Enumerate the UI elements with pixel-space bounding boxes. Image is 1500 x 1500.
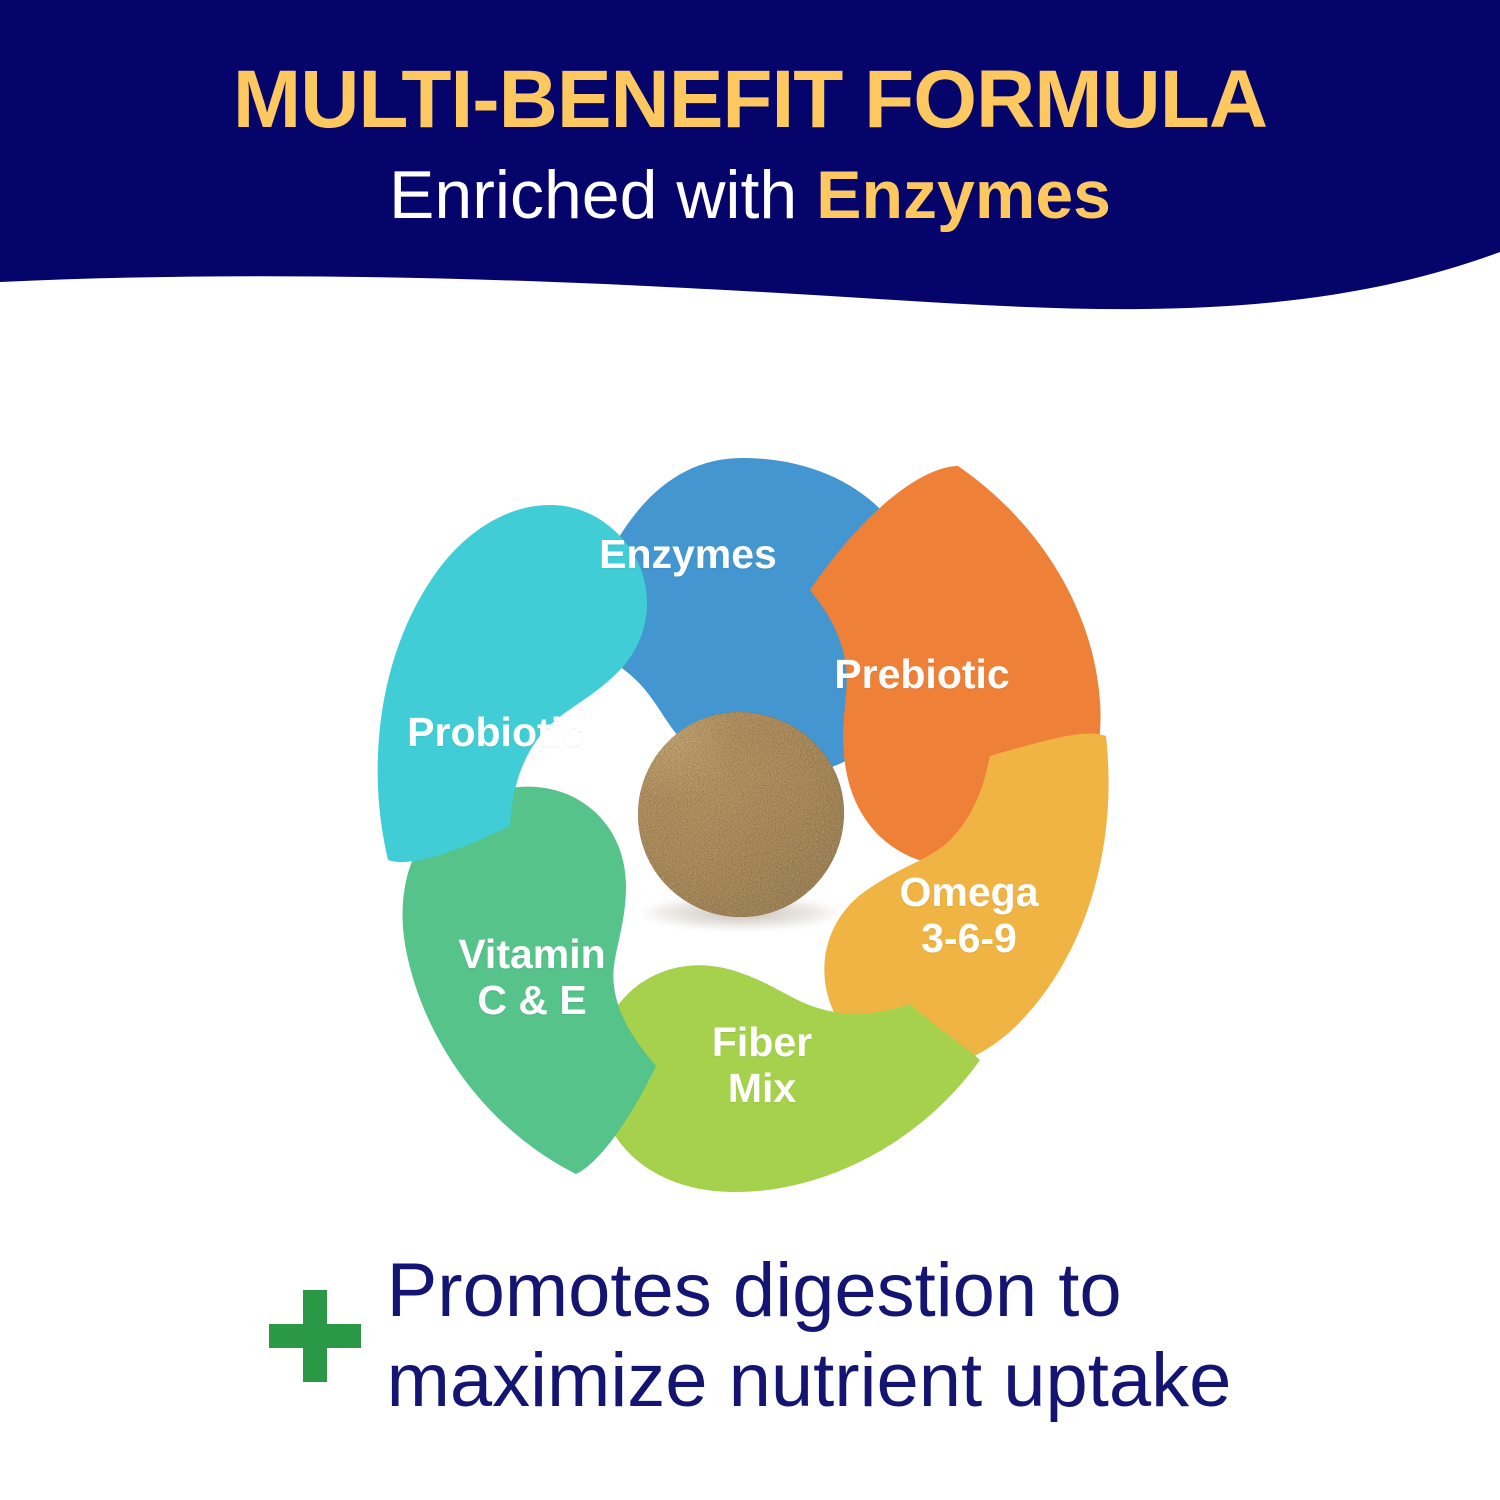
center-kibble: [630, 710, 852, 932]
page-title: MULTI-BENEFIT FORMULA: [0, 58, 1500, 142]
kibble-nugget-image: [638, 712, 844, 917]
header-text-block: MULTI-BENEFIT FORMULA Enriched with Enzy…: [0, 0, 1500, 231]
claim-line-1: Promotes digestion to: [387, 1246, 1232, 1336]
kibble-texture: [638, 712, 844, 917]
plus-icon-vertical-bar: [303, 1290, 327, 1382]
claim-text: Promotes digestion to maximize nutrient …: [387, 1246, 1232, 1425]
claim-line-2: maximize nutrient uptake: [387, 1336, 1232, 1426]
header-banner: MULTI-BENEFIT FORMULA Enriched with Enzy…: [0, 0, 1500, 340]
multi-benefit-wheel-diagram: Enzymes Prebiotic Omega 3-6-9 Fiber Mix …: [362, 440, 1122, 1210]
bottom-claim-row: Promotes digestion to maximize nutrient …: [0, 1246, 1500, 1425]
subtitle-prefix: Enriched with: [389, 157, 816, 233]
plus-icon: [269, 1290, 361, 1382]
page-subtitle: Enriched with Enzymes: [0, 160, 1500, 231]
subtitle-accent: Enzymes: [816, 157, 1111, 233]
